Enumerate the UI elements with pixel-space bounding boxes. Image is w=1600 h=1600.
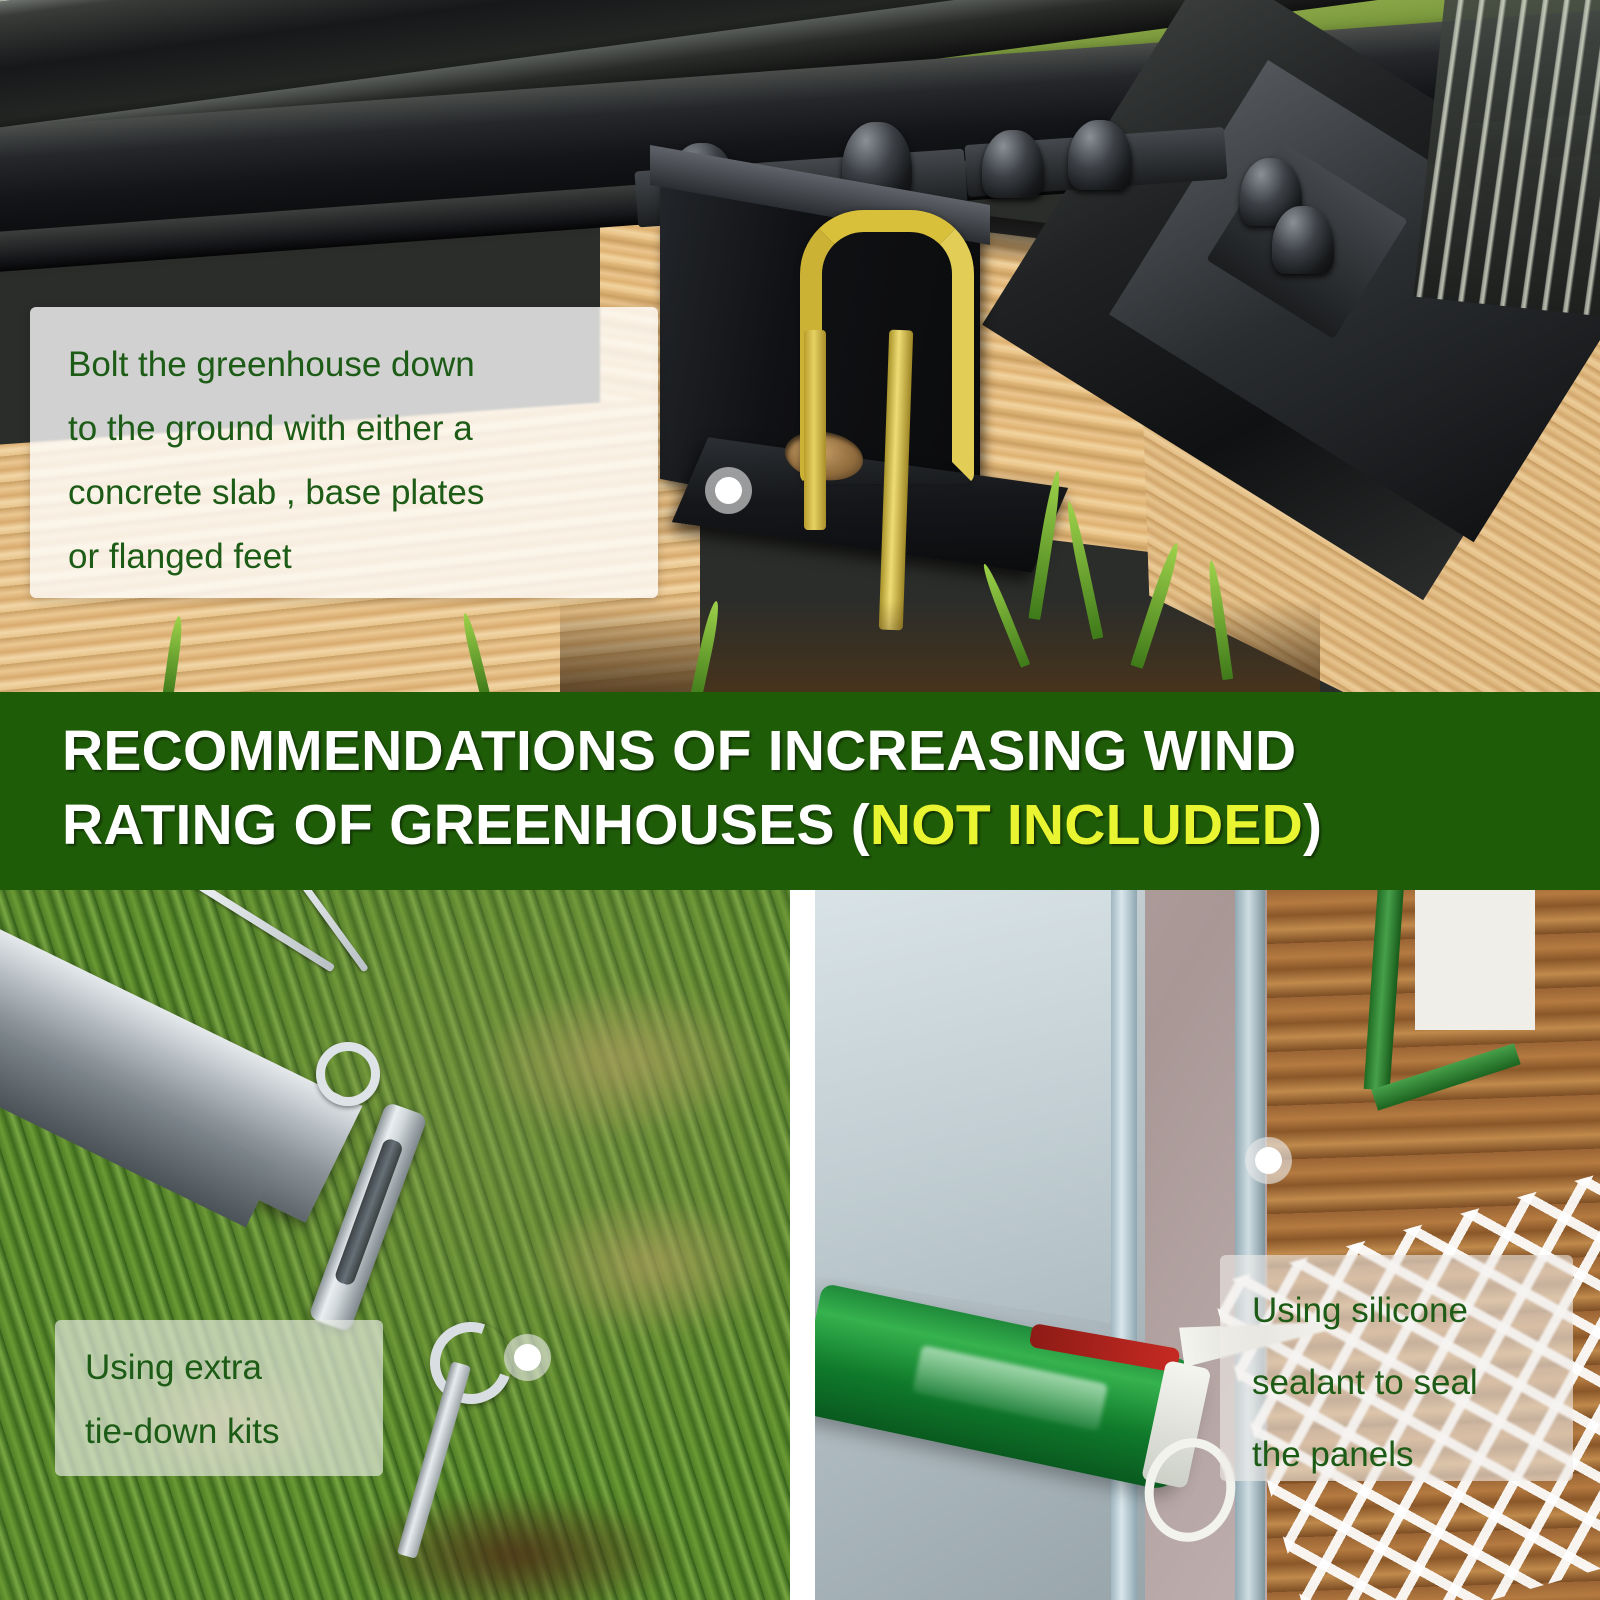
wire-thimble-eye bbox=[316, 1042, 380, 1106]
dry-grass-patch bbox=[520, 1190, 780, 1340]
polycarbonate-panel-right bbox=[1413, 0, 1600, 322]
bottom-left-photo-tie-down: Using extra tie-down kits bbox=[0, 890, 790, 1600]
glazing-mullion-1 bbox=[1111, 890, 1137, 1600]
bottom-left-caption-box: Using extra tie-down kits bbox=[55, 1320, 383, 1476]
panel-divider bbox=[790, 890, 815, 1600]
bottom-right-caption-box: Using silicone sealant to seal the panel… bbox=[1220, 1255, 1573, 1481]
bottom-right-caption-line-2: sealant to seal bbox=[1252, 1347, 1573, 1419]
bottom-left-caption-line-1: Using extra bbox=[85, 1336, 383, 1400]
headline-paren-close: ) bbox=[1303, 793, 1322, 857]
u-bolt-leg-left bbox=[804, 330, 826, 530]
headline-line-1: RECOMMENDATIONS OF INCREASING WIND bbox=[62, 714, 1560, 788]
headline-highlight-not-included: NOT INCLUDED bbox=[870, 793, 1303, 857]
white-dot-marker[interactable] bbox=[705, 467, 752, 514]
glass-panel-foreground bbox=[815, 890, 1115, 1324]
headline-line-2: RATING OF GREENHOUSES (NOT INCLUDED) bbox=[62, 788, 1560, 862]
white-dot-marker[interactable] bbox=[504, 1334, 551, 1381]
bottom-right-caption-line-1: Using silicone bbox=[1252, 1275, 1573, 1347]
top-caption-line-3: concrete slab , base plates bbox=[68, 461, 624, 525]
bottom-right-caption-line-3: the panels bbox=[1252, 1419, 1573, 1491]
u-bolt-ground-anchor bbox=[800, 210, 930, 510]
cartridge-label bbox=[912, 1345, 1108, 1431]
top-photo-greenhouse-base: Bolt the greenhouse down to the ground w… bbox=[0, 0, 1600, 692]
product-infographic: Bolt the greenhouse down to the ground w… bbox=[0, 0, 1600, 1600]
dry-grass-patch bbox=[470, 980, 770, 1140]
headline-paren-open: ( bbox=[851, 793, 870, 857]
headline-banner-inner: RECOMMENDATIONS OF INCREASING WIND RATIN… bbox=[0, 692, 1600, 862]
dome-nut bbox=[1068, 120, 1132, 190]
top-caption-box: Bolt the greenhouse down to the ground w… bbox=[30, 307, 658, 598]
top-caption-text: Bolt the greenhouse down to the ground w… bbox=[30, 307, 658, 589]
white-wall bbox=[1415, 890, 1535, 1030]
bottom-left-caption-line-2: tie-down kits bbox=[85, 1400, 383, 1464]
dome-nut bbox=[982, 130, 1044, 198]
soil-strip bbox=[560, 600, 1320, 692]
dome-nut bbox=[1272, 206, 1334, 274]
bottom-left-caption-text: Using extra tie-down kits bbox=[55, 1320, 383, 1464]
top-caption-line-4: or flanged feet bbox=[68, 525, 624, 589]
headline-line-2-prefix: RATING OF GREENHOUSES bbox=[62, 793, 851, 857]
white-dot-marker[interactable] bbox=[1245, 1137, 1292, 1184]
glazing-mullion-2 bbox=[1235, 890, 1265, 1600]
turnbuckle-slot bbox=[333, 1137, 404, 1287]
top-caption-line-2: to the ground with either a bbox=[68, 397, 624, 461]
bottom-right-photo-sealant: Using silicone sealant to seal the panel… bbox=[815, 890, 1600, 1600]
headline-banner: RECOMMENDATIONS OF INCREASING WIND RATIN… bbox=[0, 692, 1600, 890]
bottom-right-caption-text: Using silicone sealant to seal the panel… bbox=[1220, 1255, 1573, 1491]
top-caption-line-1: Bolt the greenhouse down bbox=[68, 333, 624, 397]
